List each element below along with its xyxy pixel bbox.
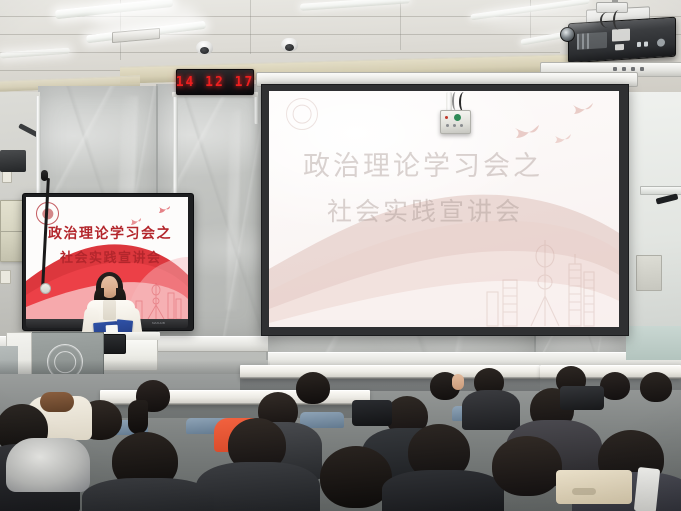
audience-bag (556, 470, 632, 504)
sensor-stem (446, 92, 452, 112)
hanging-av-sensor (440, 110, 471, 134)
slide-swallow-icon (554, 133, 572, 146)
ceiling-seam (250, 0, 251, 54)
wall-control-panel (636, 255, 662, 291)
slide-swallow-icon (514, 124, 540, 142)
audience-head (600, 372, 630, 400)
audience-head (640, 372, 672, 402)
monitor-swallow-icon (158, 205, 171, 214)
desk-bag (560, 386, 604, 410)
slide-title-line2: 社会实践宣讲会 (327, 192, 523, 228)
audience-body (462, 390, 520, 430)
audience-ponytail (128, 400, 148, 434)
boom-microphone (41, 170, 48, 181)
audience-body-front (82, 478, 214, 511)
audience-fur-hood (6, 438, 90, 492)
audience-head-front (492, 436, 562, 496)
monitor-title-line1: 政治理论学习会之 (48, 223, 172, 243)
whiteboard (626, 92, 681, 340)
lecture-hall-photo: 14 12 17 (0, 0, 681, 511)
projector-lens (560, 27, 575, 42)
monitor-title-line2: 社会实践宣讲会 (60, 247, 162, 266)
projector-mount-plate (596, 2, 628, 13)
slide-title-line1: 政治理论学习会之 (303, 144, 543, 183)
led-wall-clock: 14 12 17 (176, 69, 254, 95)
monitor-brand: MAXHUB (152, 321, 165, 325)
coat-stripe (634, 467, 660, 511)
wall-lower-tile (626, 326, 681, 360)
audience-head (296, 372, 330, 404)
wall-conduit (254, 96, 259, 124)
av-equipment-box (0, 150, 26, 172)
dome-camera-left (196, 41, 213, 54)
clock-display: 14 12 17 (176, 75, 255, 90)
dome-camera-right (281, 38, 298, 51)
slide-swallow-icon (572, 102, 594, 118)
sensor-cable (452, 92, 459, 110)
slide-city-skyline (481, 222, 611, 327)
audience-body-front (382, 470, 504, 511)
ceiling-seam (400, 0, 401, 50)
wall-socket-plate (0, 270, 11, 284)
sensor-cable (459, 92, 469, 112)
boom-joint (40, 283, 51, 294)
audience-body-front (196, 462, 320, 511)
audience-hand (452, 374, 464, 390)
presenter-collar (103, 300, 116, 320)
audience-hair-brown (40, 392, 74, 412)
ceiling-seam (0, 52, 560, 53)
slide-university-seal (286, 98, 318, 130)
projector-cable (613, 10, 625, 30)
ceiling-seam (0, 16, 681, 17)
desk-bag (352, 400, 392, 426)
bag-buckle (572, 488, 596, 495)
